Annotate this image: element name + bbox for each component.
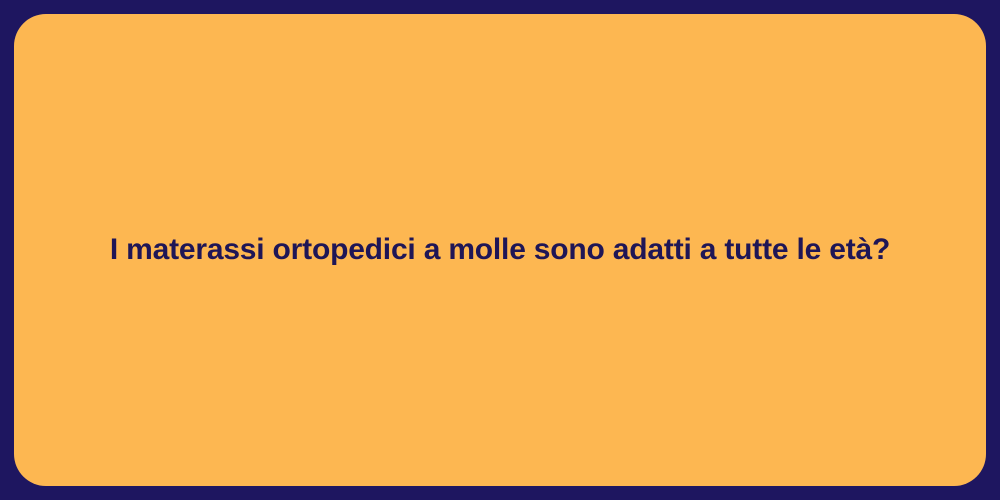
page-title: I materassi ortopedici a molle sono adat… bbox=[70, 231, 930, 269]
card-panel: I materassi ortopedici a molle sono adat… bbox=[14, 14, 986, 486]
card-frame: I materassi ortopedici a molle sono adat… bbox=[0, 0, 1000, 500]
